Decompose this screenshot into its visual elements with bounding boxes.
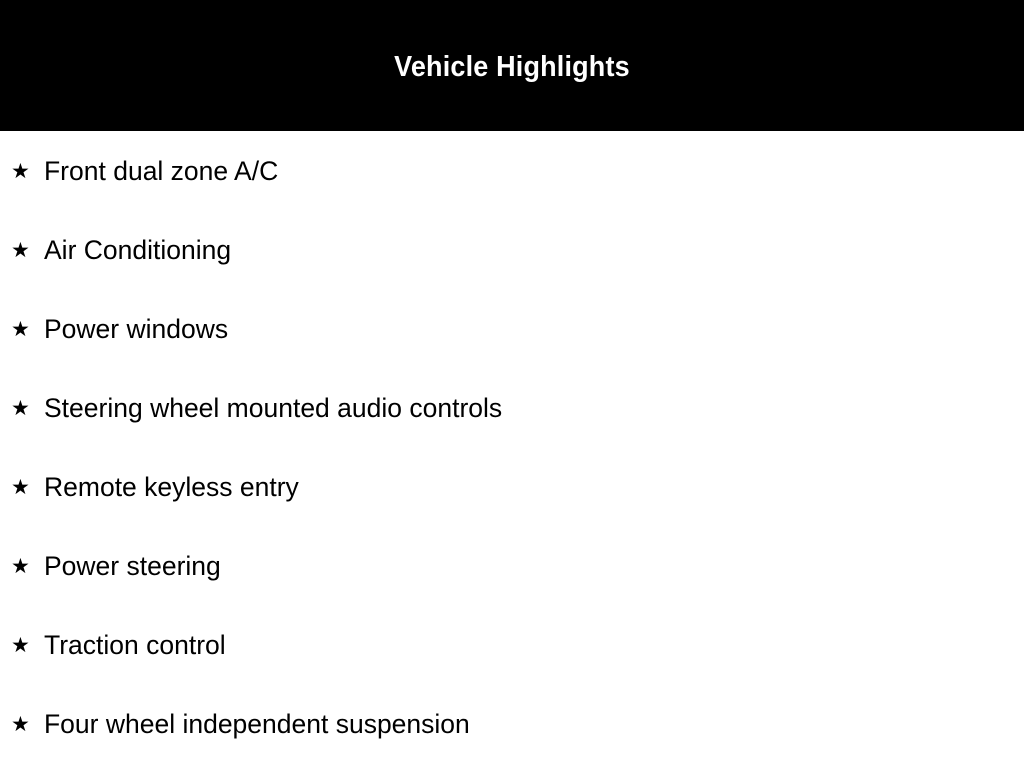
highlight-label: Front dual zone A/C <box>44 156 278 186</box>
star-icon: ★ <box>11 713 31 735</box>
star-icon: ★ <box>11 318 31 340</box>
list-item: ★ Power windows <box>0 289 1024 368</box>
list-item: ★ Steering wheel mounted audio controls <box>0 368 1024 447</box>
star-icon: ★ <box>11 634 31 656</box>
header-banner: Vehicle Highlights <box>0 0 1024 131</box>
list-item: ★ Power steering <box>0 526 1024 605</box>
list-item: ★ Remote keyless entry <box>0 447 1024 526</box>
vehicle-highlights-list: ★ Front dual zone A/C ★ Air Conditioning… <box>0 131 1024 763</box>
highlight-label: Air Conditioning <box>44 235 231 265</box>
list-item: ★ Air Conditioning <box>0 210 1024 289</box>
list-item: ★ Front dual zone A/C <box>0 131 1024 210</box>
highlight-label: Four wheel independent suspension <box>44 709 470 739</box>
star-icon: ★ <box>11 239 31 261</box>
list-item: ★ Traction control <box>0 605 1024 684</box>
star-icon: ★ <box>11 555 31 577</box>
star-icon: ★ <box>11 476 31 498</box>
star-icon: ★ <box>11 397 31 419</box>
highlight-label: Power windows <box>44 314 228 344</box>
highlight-label: Remote keyless entry <box>44 472 299 502</box>
highlight-label: Power steering <box>44 551 221 581</box>
star-icon: ★ <box>11 160 31 182</box>
highlight-label: Steering wheel mounted audio controls <box>44 393 502 423</box>
vehicle-highlights-page: Vehicle Highlights ★ Front dual zone A/C… <box>0 0 1024 768</box>
highlight-label: Traction control <box>44 630 226 660</box>
page-title: Vehicle Highlights <box>36 53 988 82</box>
list-item: ★ Four wheel independent suspension <box>0 684 1024 763</box>
